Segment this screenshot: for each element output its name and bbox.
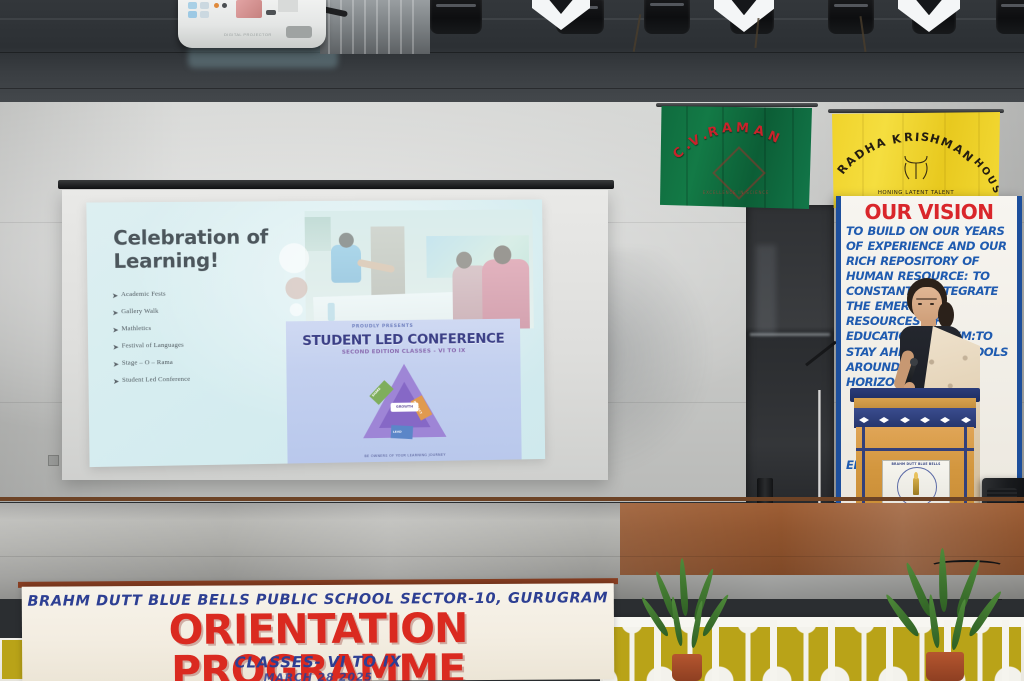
orientation-programme-banner: BRAHM DUTT BLUE BELLS PUBLIC SCHOOL SECT… xyxy=(22,583,615,681)
arrow-bullet-icon: ➤ xyxy=(113,377,122,386)
arrow-bullet-icon: ➤ xyxy=(112,308,121,317)
slide-bullet-label: Festival of Languages xyxy=(122,342,184,350)
poster-heading: STUDENT LED CONFERENCE xyxy=(298,331,508,350)
stage-edge-trim xyxy=(0,497,1024,501)
star-icon xyxy=(920,417,930,420)
ceiling xyxy=(0,0,1024,104)
poster-footer: BE OWNERS OF YOUR LEARNING JOURNEY xyxy=(300,452,510,460)
house-banner-green-subtitle: EXCELLENCE IN SCIENCE xyxy=(660,190,812,195)
slide-bullet-list: ➤ Academic Fests ➤ Gallery Walk ➤ Mathle… xyxy=(112,289,315,395)
stage-light xyxy=(996,0,1024,34)
stage-light xyxy=(430,0,482,34)
arrow-bullet-icon: ➤ xyxy=(112,291,121,300)
slide-bullet: ➤ Stage – O – Rama xyxy=(113,357,315,368)
presentation-slide: Celebration of Learning! ➤ Academic Fest… xyxy=(86,200,545,468)
slide-title-line2: Learning! xyxy=(113,248,325,273)
projector-button[interactable] xyxy=(188,11,197,18)
poster-wedge-label: LEAD xyxy=(393,430,402,434)
projector-button[interactable] xyxy=(266,10,276,15)
trident-emblem-icon xyxy=(898,154,934,180)
crest-top-text: BRAHM DUTT BLUE BELLS xyxy=(883,462,949,466)
slide-bullet: ➤ Academic Fests xyxy=(112,289,314,300)
potted-plant xyxy=(908,548,978,681)
potted-plant xyxy=(658,556,714,681)
stage-light xyxy=(828,0,874,34)
slide-bullet: ➤ Gallery Walk xyxy=(112,306,314,317)
projector-indicator-icon xyxy=(214,3,219,8)
projector-button[interactable] xyxy=(200,11,209,18)
projector-keypad[interactable] xyxy=(236,0,262,18)
star-icon xyxy=(879,417,889,420)
slide-bullet-label: Academic Fests xyxy=(121,291,166,299)
projector-button[interactable] xyxy=(188,2,197,9)
slide-bullet-label: Gallery Walk xyxy=(121,308,158,316)
slide-photo xyxy=(305,209,534,331)
screen-roller xyxy=(58,180,614,189)
stage-light xyxy=(644,0,690,34)
poster-pre-text: PROUDLY PRESENTS xyxy=(352,324,414,330)
house-banner-cv-raman: C . V . R A M A N EXCELLENCE IN SCIENCE xyxy=(660,106,812,209)
star-icon xyxy=(961,417,971,420)
microphone-head-icon xyxy=(910,358,918,366)
vision-heading: OUR VISION xyxy=(841,200,1017,224)
ceiling-projector: DIGITAL PROJECTOR xyxy=(178,0,326,48)
speaker-hair-bun xyxy=(938,302,954,328)
projector-button[interactable] xyxy=(200,2,209,9)
star-icon xyxy=(859,417,869,420)
slide-bullet: ➤ Festival of Languages xyxy=(112,340,314,351)
wall-socket xyxy=(48,455,59,466)
slide-bullet-label: Mathletics xyxy=(121,325,151,333)
projector-indicator-icon xyxy=(222,3,227,8)
star-icon xyxy=(900,417,910,420)
house-banner-radha-krishnan: R A D H A K R I S H M A N H O U S E HONI… xyxy=(832,112,1000,208)
slide-bullet: ➤ Mathletics xyxy=(112,323,314,334)
poster-core-label: GROWTH xyxy=(391,402,419,411)
arrow-bullet-icon: ➤ xyxy=(112,343,121,352)
projector-brand-label: DIGITAL PROJECTOR xyxy=(224,32,272,37)
projector-lens xyxy=(286,26,312,38)
projector-control-panel xyxy=(184,0,284,20)
podium-star-band xyxy=(854,408,976,428)
slide-title-line1: Celebration of xyxy=(113,225,325,250)
auditorium-photo: DIGITAL PROJECTOR xyxy=(0,0,1024,681)
slide-bullet-label: Student Led Conference xyxy=(122,376,190,384)
arrow-bullet-icon: ➤ xyxy=(112,326,121,335)
slide-bullet: ➤ Student Led Conference xyxy=(113,375,315,386)
arrow-bullet-icon: ➤ xyxy=(113,360,122,369)
star-icon xyxy=(940,417,950,420)
slide-title: Celebration of Learning! xyxy=(113,225,325,273)
slide-bullet-label: Stage – O – Rama xyxy=(122,359,173,367)
slide-poster-graphic: PROUDLY PRESENTS STUDENT LED CONFERENCE … xyxy=(286,319,522,464)
